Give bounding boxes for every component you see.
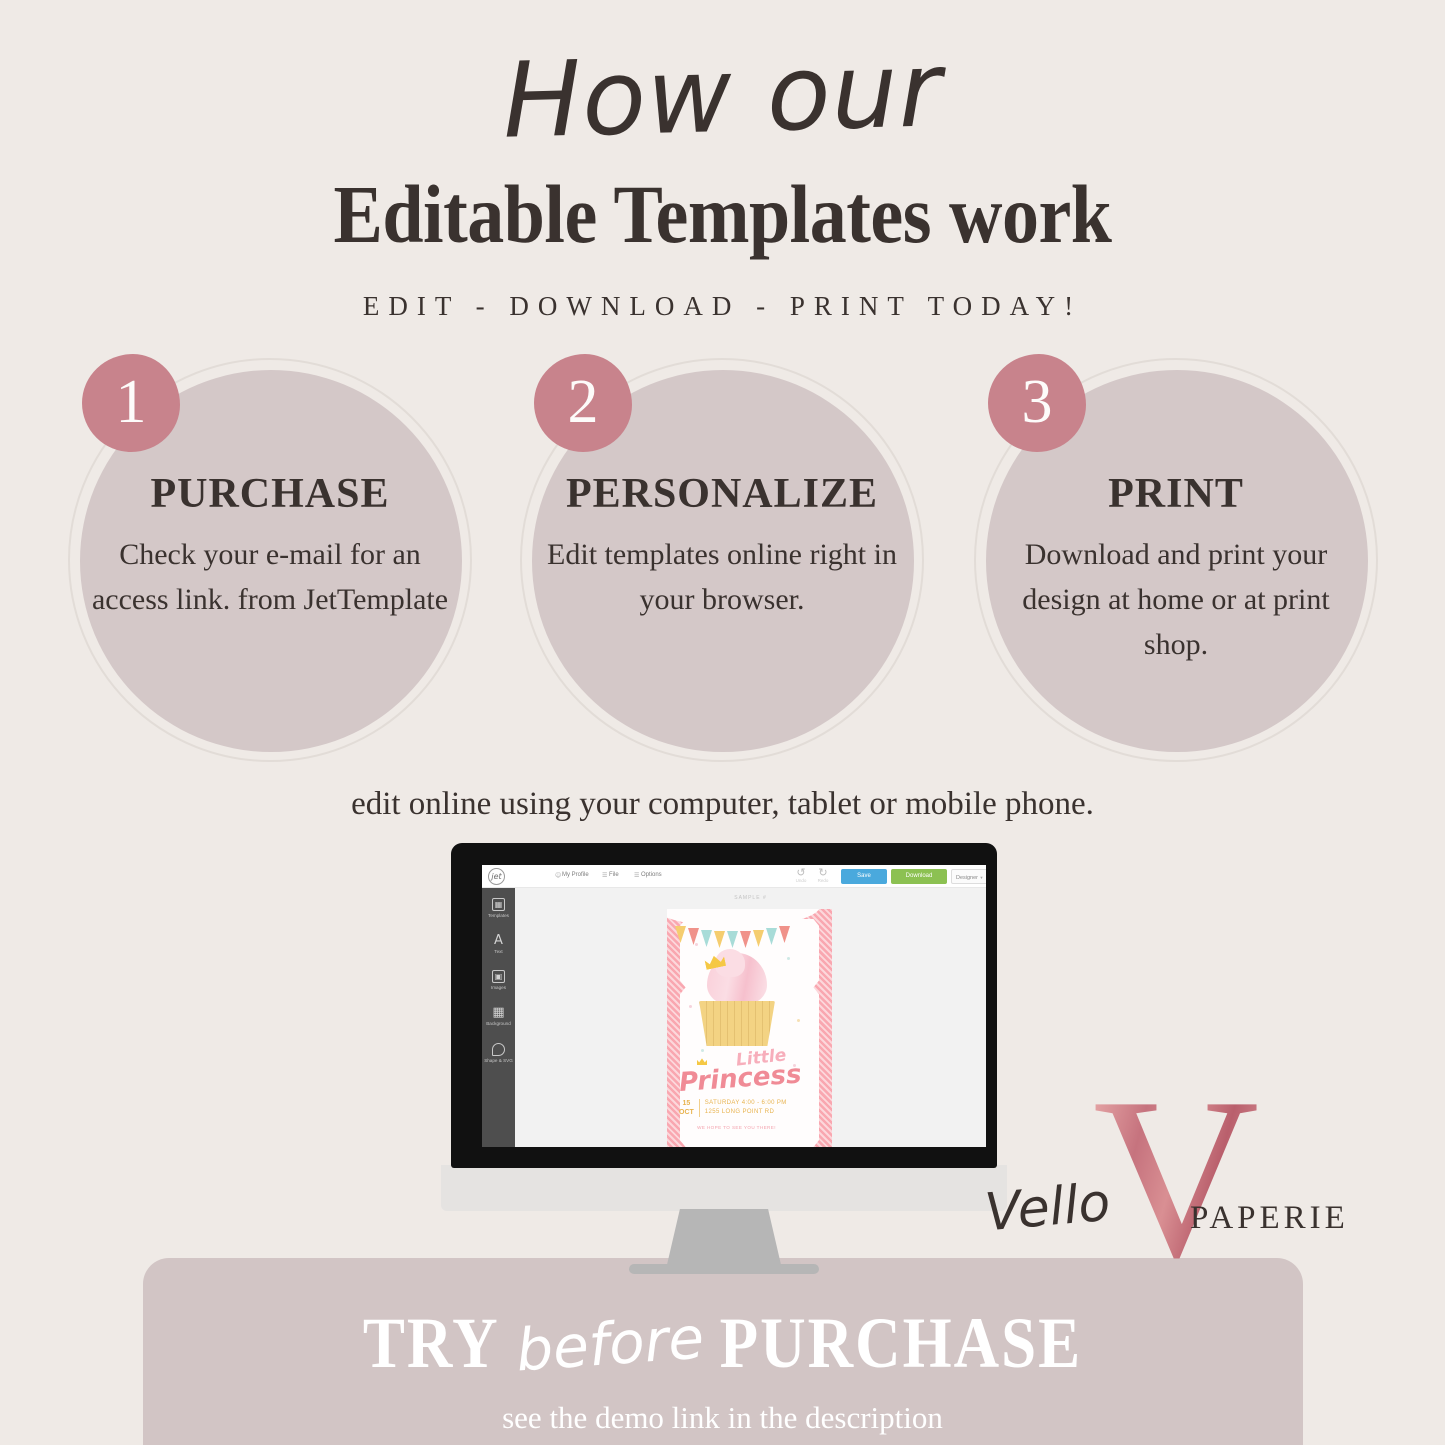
designer-dropdown[interactable]: Designer ▼: [951, 869, 986, 884]
redo-button[interactable]: ↻ Redo: [813, 868, 833, 886]
logo-wordmark-paperie: PAPERIE: [1190, 1200, 1349, 1237]
card-date-day: 15: [679, 1099, 694, 1108]
undo-button[interactable]: ↺ Undo: [791, 868, 811, 886]
device-tagline: edit online using your computer, tablet …: [0, 786, 1445, 823]
step-title: PURCHASE: [60, 470, 480, 518]
step-card-purchase: 1 PURCHASE Check your e-mail for an acce…: [60, 352, 480, 772]
editor-canvas[interactable]: SAMPLE #: [515, 888, 986, 1147]
sidebar-item-background[interactable]: ▦ Background: [482, 1006, 515, 1026]
undo-label: Undo: [791, 878, 811, 884]
sidebar-label: Shape & SVG: [482, 1058, 515, 1063]
step-number-badge: 2: [534, 354, 632, 452]
sidebar-item-images[interactable]: ▣ Images: [482, 970, 515, 990]
editor-toolbar: jet ☺ My Profile ☰ File ☰ Options ↺ Undo…: [482, 865, 986, 888]
redo-label: Redo: [813, 878, 833, 884]
step-card-print: 3 PRINT Download and print your design a…: [966, 352, 1386, 772]
monitor-stand-foot: [629, 1264, 819, 1274]
cta-part-try: TRY: [363, 1302, 500, 1386]
step-body: Edit templates online right in your brow…: [540, 532, 904, 622]
images-icon: ▣: [492, 970, 505, 983]
card-time: SATURDAY 4:00 - 6:00 PM: [705, 1099, 787, 1108]
step-number-badge: 1: [82, 354, 180, 452]
step-body: Check your e-mail for an access link. fr…: [88, 532, 452, 622]
cupcake-base-icon: [699, 1001, 775, 1046]
download-button[interactable]: Download: [891, 869, 947, 884]
invitation-card[interactable]: Little Princess 15 OCT SATURDAY 4:00 - 6…: [667, 909, 832, 1147]
bunting-banner-icon: [675, 923, 798, 949]
card-footer-note: WE HOPE TO SEE YOU THERE!: [675, 1125, 798, 1130]
step-title: PERSONALIZE: [512, 470, 932, 518]
monitor-chin: [441, 1165, 1007, 1211]
options-icon: ☰: [634, 872, 639, 879]
designer-label: Designer: [956, 875, 978, 881]
editor-sidebar: ▦ Templates A Text ▣ Images ▦ Background: [482, 888, 515, 1147]
sidebar-item-text[interactable]: A Text: [482, 934, 515, 954]
editor-application: jet ☺ My Profile ☰ File ☰ Options ↺ Undo…: [482, 865, 986, 1147]
monitor-bezel: jet ☺ My Profile ☰ File ☰ Options ↺ Undo…: [451, 843, 997, 1168]
canvas-sample-label: SAMPLE #: [515, 895, 986, 901]
save-button[interactable]: Save: [841, 869, 887, 884]
step-card-personalize: 2 PERSONALIZE Edit templates online righ…: [512, 352, 932, 772]
cupcake-illustration-icon: [691, 953, 783, 1048]
sidebar-label: Images: [482, 985, 515, 990]
card-address: 1255 LONG POINT RD: [705, 1108, 787, 1117]
text-icon: A: [492, 934, 505, 947]
page-header: How our Editable Templates work EDIT - D…: [0, 0, 1445, 340]
redo-arrow-icon: ↻: [813, 868, 833, 878]
step-number-badge: 3: [988, 354, 1086, 452]
step-title: PRINT: [966, 470, 1386, 518]
undo-arrow-icon: ↺: [791, 868, 811, 878]
menu-options[interactable]: Options: [641, 872, 662, 878]
cta-subtitle: see the demo link in the description: [0, 1400, 1445, 1436]
card-details: 15 OCT SATURDAY 4:00 - 6:00 PM 1255 LONG…: [679, 1099, 794, 1117]
sidebar-label: Text: [482, 949, 515, 954]
cta-part-before: before: [502, 1302, 718, 1385]
monitor-stand-neck: [666, 1209, 782, 1269]
card-date: 15 OCT: [679, 1099, 700, 1117]
jet-brand-logo-icon[interactable]: jet: [488, 868, 505, 885]
shape-svg-icon: [492, 1043, 505, 1056]
person-icon: ☺: [555, 872, 561, 879]
page-title: Editable Templates work: [0, 168, 1445, 263]
steps-section: 1 PURCHASE Check your e-mail for an acce…: [0, 352, 1445, 772]
cta-headline: TRY before PURCHASE: [0, 1307, 1445, 1380]
brand-logo: V Vello PAPERIE: [985, 1082, 1355, 1282]
background-grid-icon: ▦: [492, 1006, 505, 1019]
sidebar-label: Templates: [482, 913, 515, 918]
menu-file[interactable]: File: [609, 872, 619, 878]
templates-icon: ▦: [492, 898, 505, 911]
logo-monogram-v: V: [1093, 1078, 1259, 1278]
card-date-month: OCT: [679, 1108, 694, 1117]
card-info: SATURDAY 4:00 - 6:00 PM 1255 LONG POINT …: [700, 1099, 787, 1117]
cta-part-purchase: PURCHASE: [720, 1302, 1083, 1386]
desktop-monitor-mockup: jet ☺ My Profile ☰ File ☰ Options ↺ Undo…: [441, 843, 1007, 1278]
step-body: Download and print your design at home o…: [994, 532, 1358, 667]
menu-my-profile[interactable]: My Profile: [562, 872, 589, 878]
sidebar-item-templates[interactable]: ▦ Templates: [482, 898, 515, 918]
script-headline: How our: [0, 15, 1445, 175]
logo-script-vello: Vello: [983, 1173, 1113, 1244]
page-subtitle: EDIT - DOWNLOAD - PRINT TODAY!: [0, 291, 1445, 322]
chevron-down-icon: ▼: [980, 875, 984, 880]
file-icon: ☰: [602, 872, 607, 879]
sidebar-label: Background: [482, 1021, 515, 1026]
sidebar-item-shape-svg[interactable]: Shape & SVG: [482, 1043, 515, 1063]
